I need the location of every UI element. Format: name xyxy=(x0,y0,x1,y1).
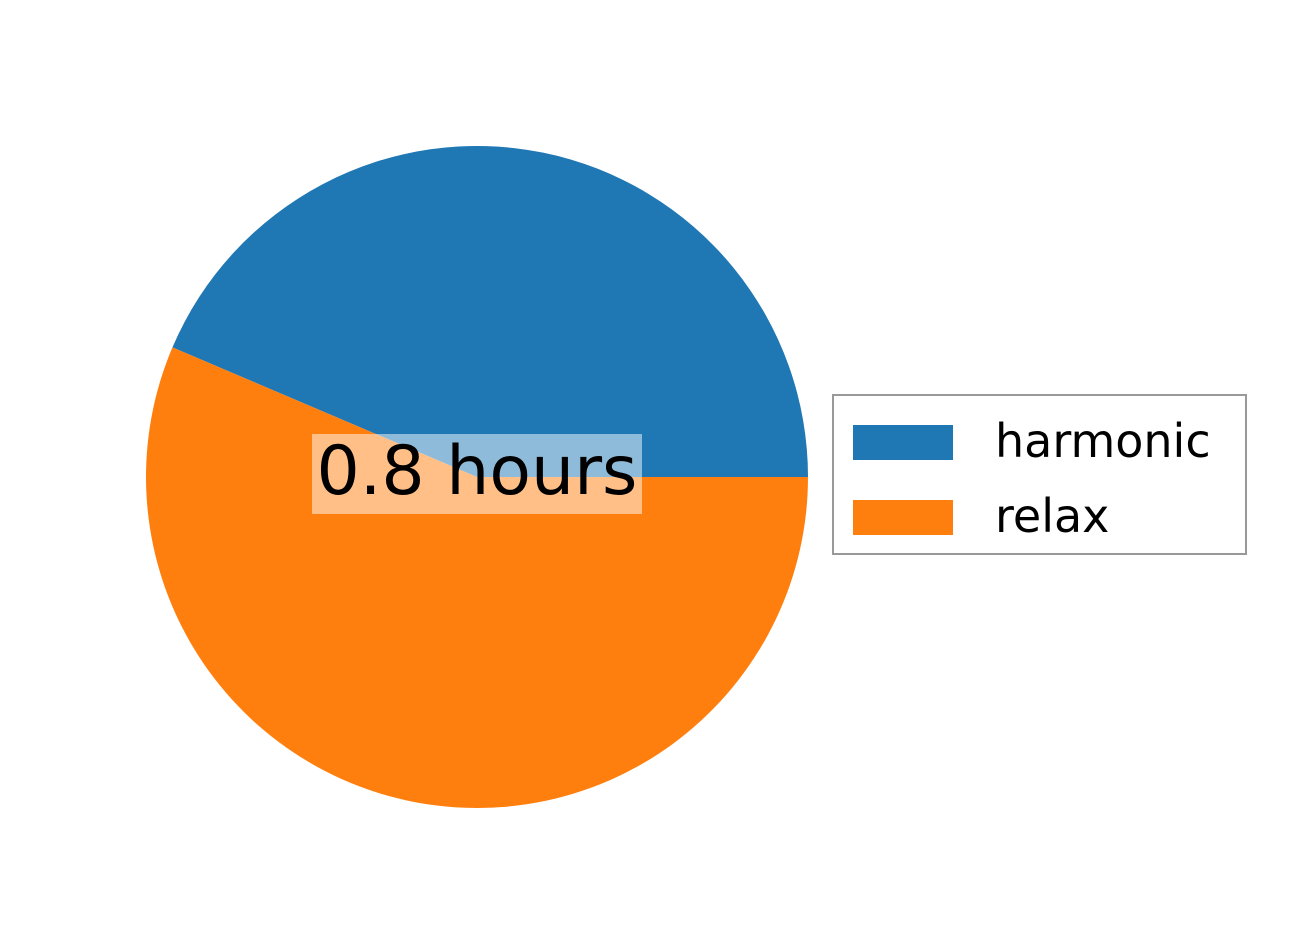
legend-item-relax[interactable]: relax xyxy=(834,490,1245,545)
legend-swatch-relax xyxy=(853,500,953,535)
pie-svg xyxy=(146,146,808,808)
legend-label-relax: relax xyxy=(995,493,1109,539)
legend-label-harmonic: harmonic xyxy=(995,418,1211,464)
legend-item-harmonic[interactable]: harmonic xyxy=(834,415,1245,470)
legend-swatch-harmonic xyxy=(853,425,953,460)
pie-chart xyxy=(146,146,808,808)
figure-canvas: 0.8 hours harmonic relax xyxy=(0,0,1307,951)
legend-box: harmonic relax xyxy=(832,394,1247,555)
